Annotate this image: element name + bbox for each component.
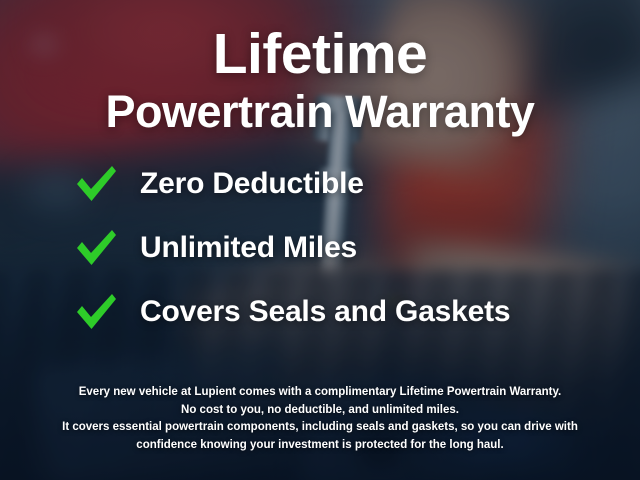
- headline-line-2: Powertrain Warranty: [0, 89, 640, 134]
- banner-content: Lifetime Powertrain Warranty Zero Deduct…: [0, 0, 640, 480]
- benefit-label: Zero Deductible: [140, 167, 364, 201]
- benefit-item: Covers Seals and Gaskets: [74, 292, 640, 332]
- check-icon: [74, 228, 118, 268]
- benefit-list: Zero Deductible Unlimited Miles Covers S…: [0, 164, 640, 332]
- benefit-label: Unlimited Miles: [140, 231, 357, 265]
- check-icon: [74, 292, 118, 332]
- footnote-line-4: confidence knowing your investment is pr…: [34, 437, 606, 454]
- warranty-banner: Lifetime Powertrain Warranty Zero Deduct…: [0, 0, 640, 480]
- footnote: Every new vehicle at Lupient comes with …: [0, 384, 640, 454]
- benefit-label: Covers Seals and Gaskets: [140, 295, 510, 329]
- headline: Lifetime Powertrain Warranty: [0, 26, 640, 134]
- benefit-item: Zero Deductible: [74, 164, 640, 204]
- footnote-line-1: Every new vehicle at Lupient comes with …: [34, 384, 606, 401]
- check-icon: [74, 164, 118, 204]
- footnote-line-2: No cost to you, no deductible, and unlim…: [34, 402, 606, 419]
- benefit-item: Unlimited Miles: [74, 228, 640, 268]
- footnote-line-3: It covers essential powertrain component…: [34, 419, 606, 436]
- headline-line-1: Lifetime: [0, 26, 640, 83]
